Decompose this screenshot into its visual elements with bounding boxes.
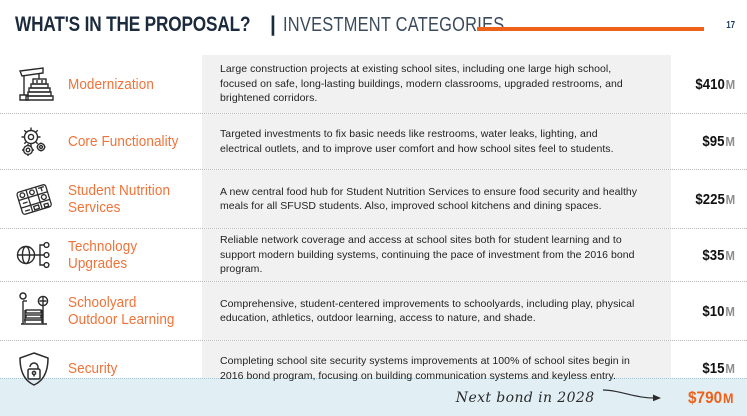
category-label-text: Modernization — [68, 76, 154, 93]
category-description-text: Large construction projects at existing … — [220, 62, 641, 106]
category-label-text: Student Nutrition Services — [68, 182, 189, 216]
category-description-text: Targeted investments to fix basic needs … — [220, 127, 641, 156]
category-label: Core Functionality — [68, 114, 202, 169]
category-description: Comprehensive, student-centered improvem… — [202, 282, 659, 340]
category-description-text: A new central food hub for Student Nutri… — [220, 185, 641, 214]
category-amount: $410M — [659, 55, 747, 113]
category-amount-value: $410M — [695, 76, 735, 93]
table-row[interactable]: Core Functionality Targeted investments … — [0, 114, 747, 170]
category-label-text: Schoolyard Outdoor Learning — [68, 294, 189, 328]
network-globe-icon — [0, 229, 68, 281]
category-label-text: Security — [68, 360, 118, 377]
page-title: WHAT'S IN THE PROPOSAL? | INVESTMENT CAT… — [15, 13, 553, 37]
category-amount-value: $15M — [703, 360, 735, 377]
category-description-text: Reliable network coverage and access at … — [220, 233, 641, 277]
food-tray-icon — [0, 170, 68, 228]
category-description: Reliable network coverage and access at … — [202, 229, 659, 281]
page-title-separator: | — [270, 13, 283, 37]
category-label-text: Technology Upgrades — [68, 238, 189, 272]
table-row[interactable]: Security Completing school site security… — [0, 341, 747, 397]
category-description: Targeted investments to fix basic needs … — [202, 114, 659, 169]
category-label: Security — [68, 341, 202, 396]
table-row[interactable]: Technology Upgrades Reliable network cov… — [0, 229, 747, 282]
table-row[interactable]: Modernization Large construction project… — [0, 55, 747, 114]
table-row[interactable]: Student Nutrition Services A new central… — [0, 170, 747, 229]
category-amount: $225M — [659, 170, 747, 228]
category-amount: $95M — [659, 114, 747, 169]
page-title-subtitle: INVESTMENT CATEGORIES — [283, 14, 504, 37]
category-amount: $35M — [659, 229, 747, 281]
category-description: Large construction projects at existing … — [202, 55, 659, 113]
header-accent-rule — [477, 27, 704, 31]
category-amount: $15M — [659, 341, 747, 396]
slide-header: WHAT'S IN THE PROPOSAL? | INVESTMENT CAT… — [0, 0, 747, 55]
park-bench-icon — [0, 282, 68, 340]
category-amount-value: $35M — [703, 247, 735, 264]
category-label: Technology Upgrades — [68, 229, 202, 281]
investment-categories-table: Modernization Large construction project… — [0, 55, 747, 397]
category-label: Modernization — [68, 55, 202, 113]
construction-crane-icon — [0, 55, 68, 113]
page-title-main: WHAT'S IN THE PROPOSAL? — [15, 13, 250, 37]
table-row[interactable]: Schoolyard Outdoor Learning Comprehensiv… — [0, 282, 747, 341]
category-amount-value: $10M — [703, 303, 735, 320]
category-label: Student Nutrition Services — [68, 170, 202, 228]
category-description: Completing school site security systems … — [202, 341, 659, 396]
category-description-text: Completing school site security systems … — [220, 354, 641, 383]
category-label: Schoolyard Outdoor Learning — [68, 282, 202, 340]
category-description-text: Comprehensive, student-centered improvem… — [220, 297, 641, 326]
category-description: A new central food hub for Student Nutri… — [202, 170, 659, 228]
gears-icon — [0, 114, 68, 169]
shield-lock-icon — [0, 341, 68, 396]
page-number: 17 — [726, 20, 735, 31]
category-amount-value: $95M — [703, 133, 735, 150]
category-label-text: Core Functionality — [68, 133, 178, 150]
category-amount-value: $225M — [695, 191, 735, 208]
category-amount: $10M — [659, 282, 747, 340]
